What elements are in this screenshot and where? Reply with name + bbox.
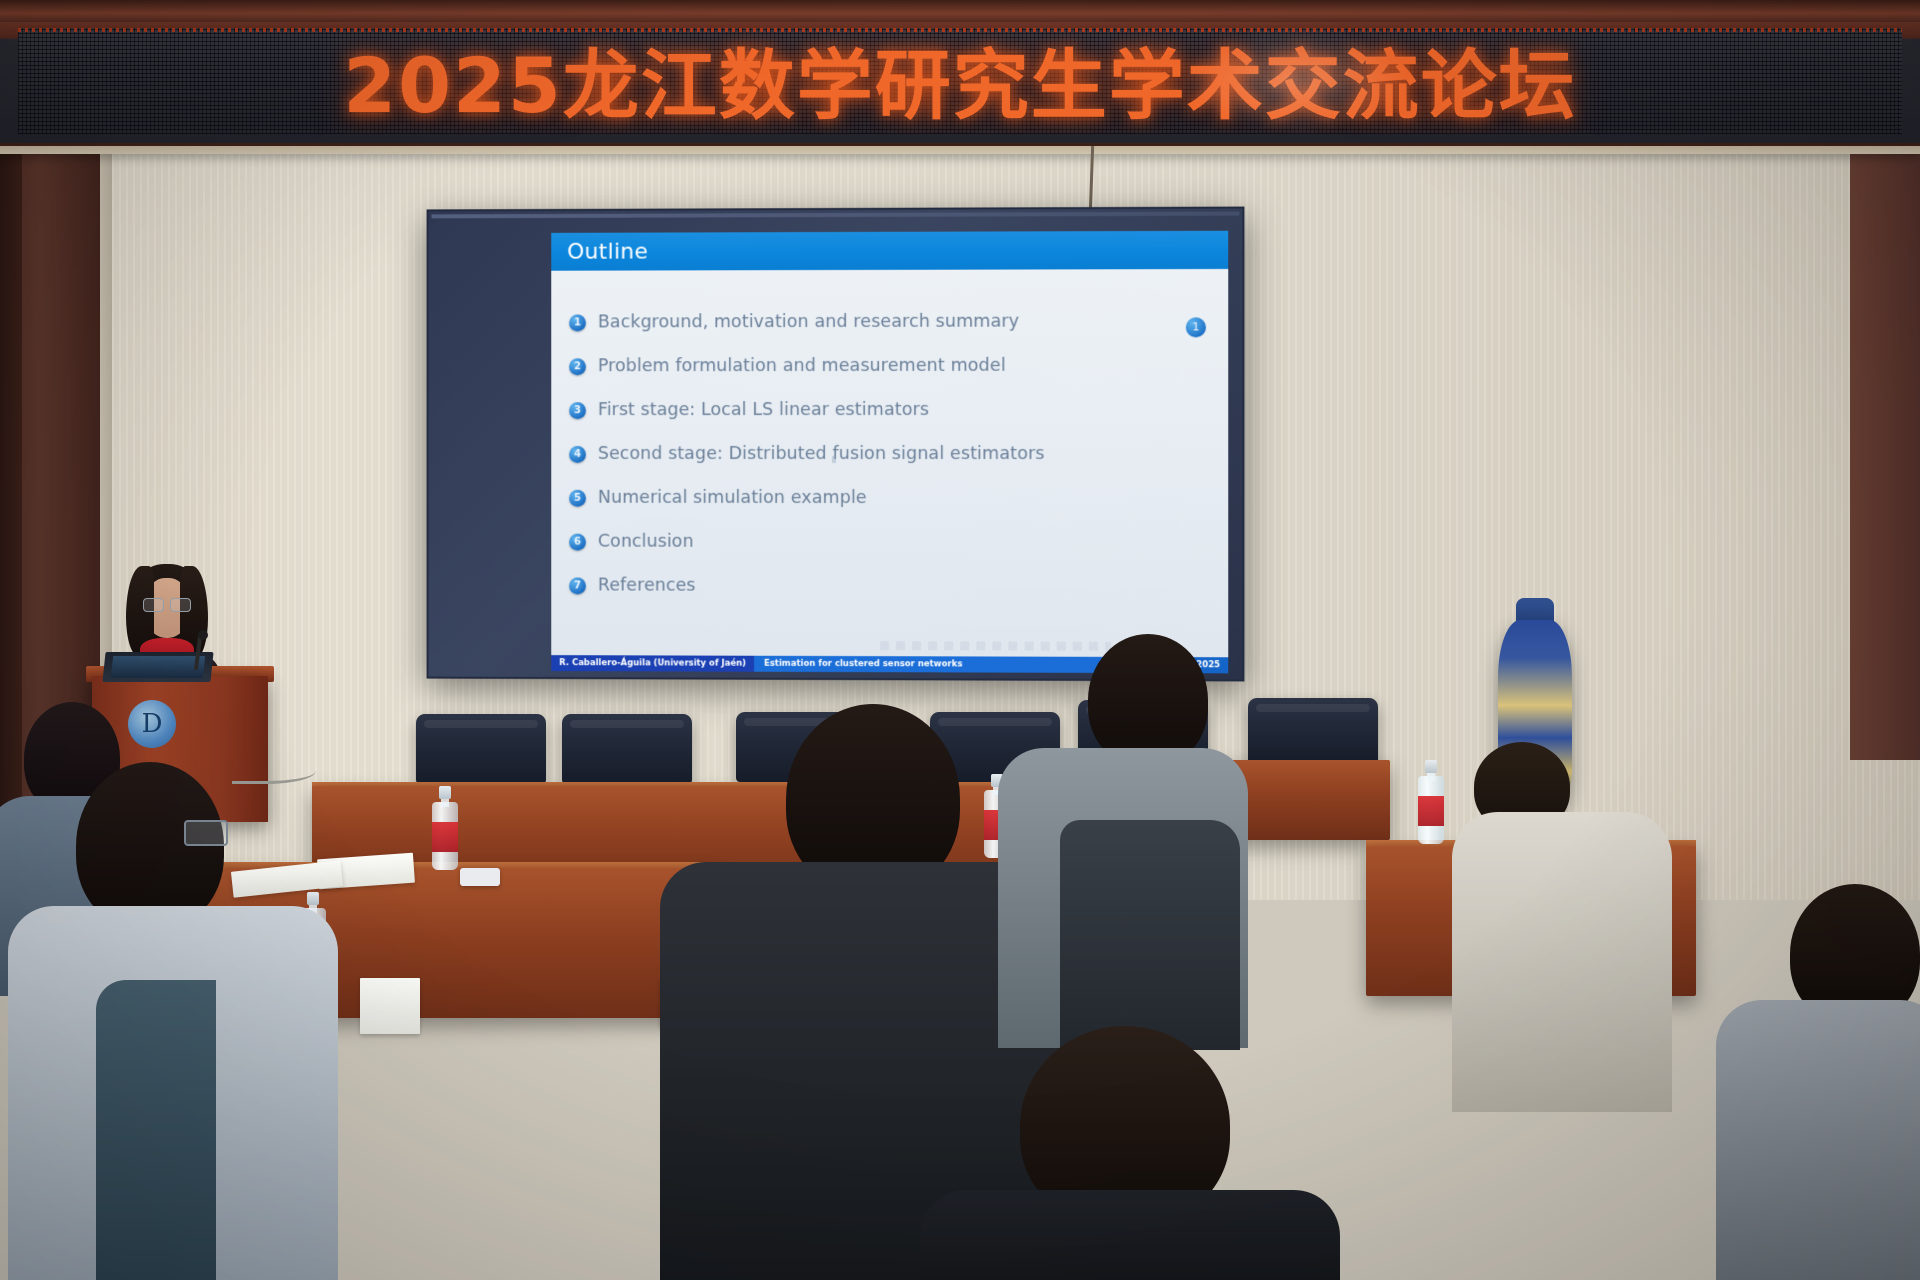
list-item: 2 Problem formulation and measurement mo… (569, 343, 1228, 388)
slide-page-badge: 1 (1186, 317, 1206, 337)
water-bottle (1418, 760, 1444, 844)
outline-item-label: Conclusion (598, 532, 694, 552)
glasses-icon (184, 820, 228, 846)
left-wood-panel-edge (0, 130, 22, 900)
led-banner-screen: 2025龙江数学研究生学术交流论坛 (18, 26, 1902, 134)
slide-title-bar: Outline (551, 231, 1228, 271)
projection-screen: Outline 1 Background, motivation and res… (427, 207, 1245, 682)
outline-item-label: First stage: Local LS linear estimators (598, 400, 929, 420)
lectern-laptop-screen (111, 656, 205, 678)
list-item: 5 Numerical simulation example (569, 476, 1228, 521)
chair (416, 714, 546, 784)
outline-item-label: Problem formulation and measurement mode… (598, 356, 1006, 376)
chair (562, 714, 692, 784)
paper-sheet (360, 978, 420, 1034)
slide-faint-overlay (880, 641, 1111, 651)
outline-item-label: Second stage: Distributed fusion signal … (598, 444, 1045, 464)
right-wood-panel (1850, 130, 1920, 760)
outline-number-icon: 2 (569, 358, 586, 375)
list-item: 7 References (569, 564, 1228, 609)
slide-outline-list: 1 Background, motivation and research su… (551, 269, 1228, 649)
outline-number-icon: 6 (569, 533, 586, 550)
slide-footer-author: R. Caballero-Águila (University of Jaén) (551, 655, 754, 672)
university-emblem-icon: D (128, 700, 176, 748)
outline-number-icon: 5 (569, 489, 586, 506)
outline-number-icon: 1 (569, 314, 586, 331)
smartphone (460, 868, 500, 886)
presentation-slide: Outline 1 Background, motivation and res… (551, 231, 1228, 674)
microphone-icon (198, 630, 208, 640)
chair (1248, 698, 1378, 768)
list-item: 1 Background, motivation and research su… (569, 299, 1228, 344)
outline-item-label: Numerical simulation example (598, 488, 867, 508)
outline-item-label: References (598, 576, 696, 596)
outline-number-icon: 7 (569, 577, 586, 594)
banner-wood-trim (0, 0, 1920, 22)
list-item: 6 Conclusion (569, 520, 1228, 565)
outline-number-icon: 4 (569, 445, 586, 462)
outline-number-icon: 3 (569, 402, 586, 419)
list-item: 3 First stage: Local LS linear estimator… (569, 388, 1228, 432)
led-dot-strip (18, 28, 1902, 32)
list-item: 4 Second stage: Distributed fusion signa… (569, 432, 1228, 476)
outline-item-label: Background, motivation and research summ… (598, 312, 1019, 333)
water-bottle (432, 786, 458, 870)
screen-bezel-highlight (432, 212, 1240, 219)
lecture-hall-scene: 2025龙江数学研究生学术交流论坛 Outline 1 Background, … (0, 0, 1920, 1280)
slide-title: Outline (551, 239, 648, 264)
slide-artifact (832, 456, 836, 463)
glasses-icon (143, 598, 191, 610)
banner-title-text: 2025龙江数学研究生学术交流论坛 (343, 26, 1577, 134)
led-banner-frame: 2025龙江数学研究生学术交流论坛 (0, 0, 1920, 146)
